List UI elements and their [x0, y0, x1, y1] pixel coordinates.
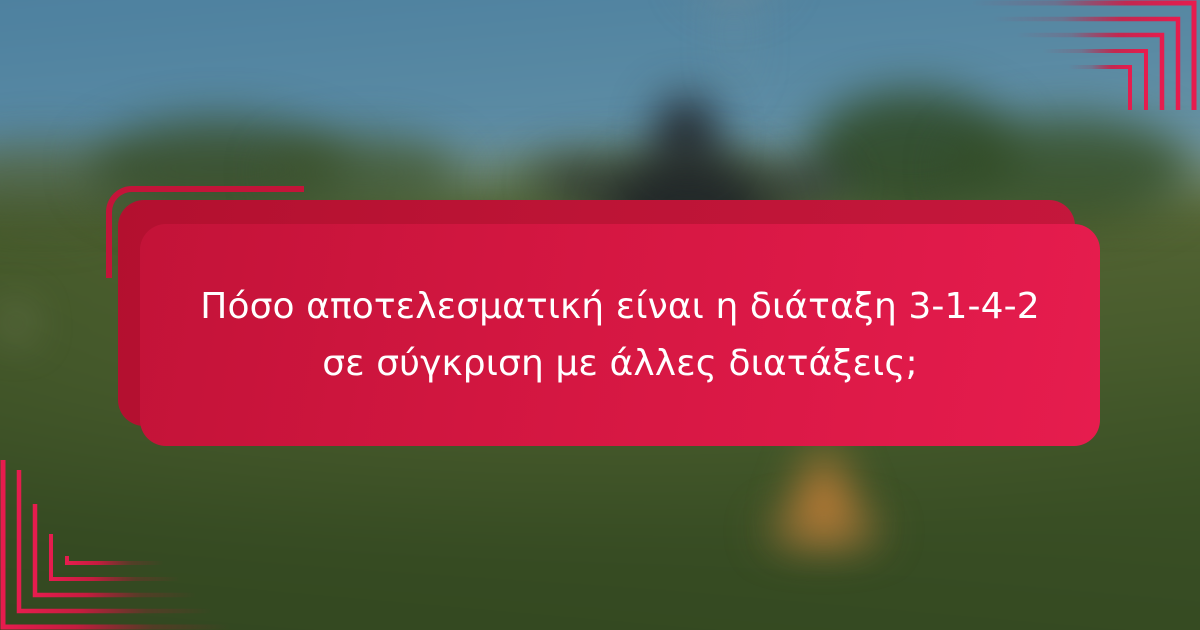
headline-line-2: σε σύγκριση με άλλες διατάξεις;: [322, 338, 918, 389]
player-head: [656, 96, 716, 168]
share-card-canvas: Πόσο αποτελεσματική είναι η διάταξη 3-1-…: [0, 0, 1200, 630]
training-cone-far: [0, 296, 32, 336]
ball-motion-streak: [726, 0, 744, 94]
headline-block: Πόσο αποτελεσματική είναι η διάταξη 3-1-…: [140, 224, 1100, 446]
training-cone: [788, 438, 860, 530]
headline-line-1: Πόσο αποτελεσματική είναι η διάταξη 3-1-…: [200, 281, 1039, 332]
